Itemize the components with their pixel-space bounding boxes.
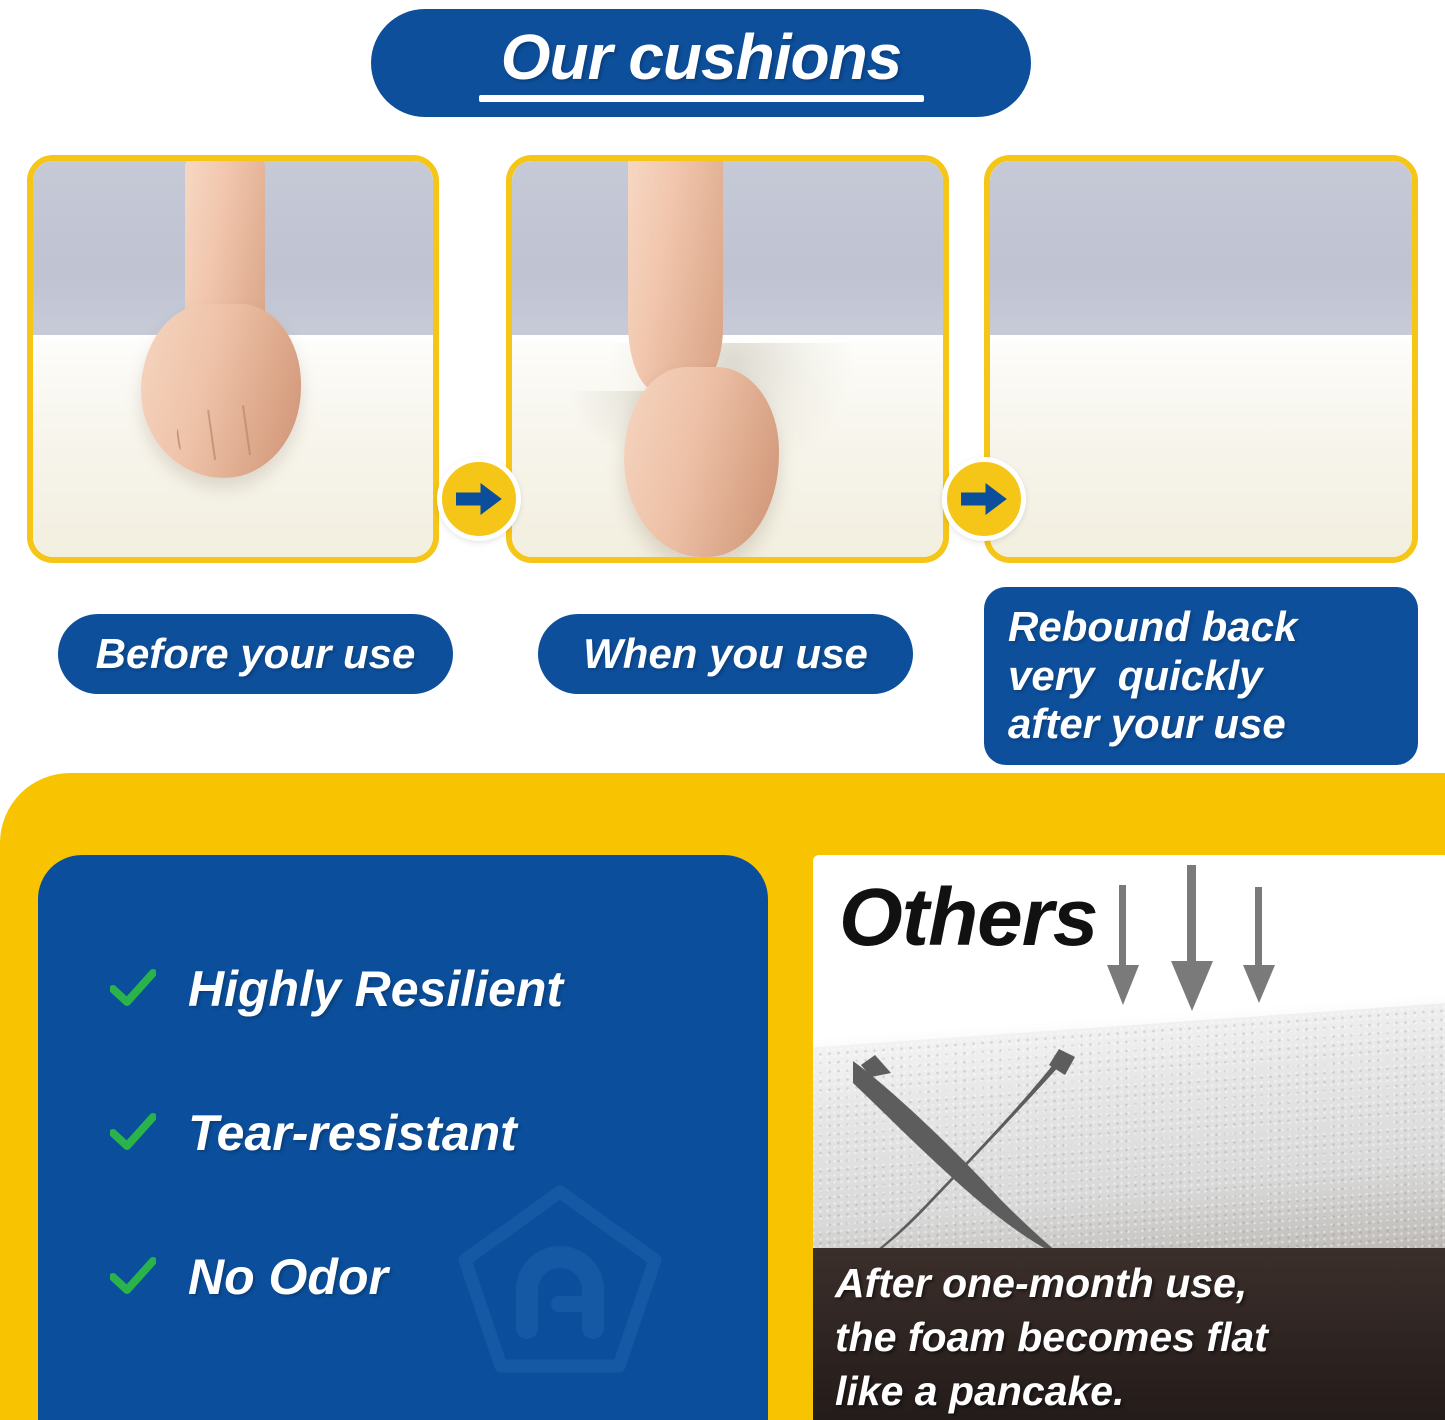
step-caption-before-label: Before your use <box>96 630 416 678</box>
step-caption-after-line-1: Rebound back <box>1008 603 1297 652</box>
foam-scene-before <box>33 161 433 557</box>
step-caption-after: Rebound back very quickly after your use <box>984 587 1418 765</box>
feature-item: No Odor <box>110 1241 730 1313</box>
feature-item: Highly Resilient <box>110 953 730 1025</box>
feature-item: Tear-resistant <box>110 1097 730 1169</box>
forearm <box>628 155 723 391</box>
step-photo-before <box>27 155 439 563</box>
features-panel: Highly Resilient Tear-resistant No Odor <box>38 855 768 1420</box>
step-caption-during-label: When you use <box>583 630 868 678</box>
others-card: Others After one-month use, the foam bec… <box>813 855 1445 1420</box>
check-icon <box>110 1113 156 1153</box>
feature-label: No Odor <box>188 1248 388 1306</box>
step-caption-before: Before your use <box>58 614 453 694</box>
others-caption-line-1: After one-month use, <box>835 1256 1445 1310</box>
title-underline <box>479 95 924 102</box>
others-caption-line-3: like a pancake. <box>835 1364 1445 1418</box>
arrow-right-glyph <box>456 482 502 516</box>
feature-label: Highly Resilient <box>188 960 563 1018</box>
step-photo-after <box>984 155 1418 563</box>
step-caption-after-line-2: very quickly <box>1008 652 1262 701</box>
x-mark-icon <box>831 1025 1101 1285</box>
foam-scene-during <box>512 161 943 557</box>
background-wall <box>990 161 1412 347</box>
arrow-right-icon <box>942 457 1026 541</box>
arrow-right-icon <box>437 457 521 541</box>
background-wall <box>512 161 943 347</box>
feature-label: Tear-resistant <box>188 1104 517 1162</box>
others-caption-line-2: the foam becomes flat <box>835 1310 1445 1364</box>
photo-strip <box>0 155 1445 565</box>
arrow-right-glyph <box>961 482 1007 516</box>
features-list: Highly Resilient Tear-resistant No Odor <box>110 953 730 1385</box>
step-caption-after-line-3: after your use <box>1008 700 1286 749</box>
foam-scene-after <box>990 161 1412 557</box>
step-photo-during <box>506 155 949 563</box>
check-icon <box>110 1257 156 1297</box>
others-caption: After one-month use, the foam becomes fl… <box>813 1248 1445 1420</box>
page-title-banner: Our cushions <box>371 9 1031 117</box>
others-title: Others <box>839 877 1097 959</box>
fist <box>624 367 779 557</box>
page-title: Our cushions <box>501 25 902 89</box>
check-icon <box>110 969 156 1009</box>
step-caption-during: When you use <box>538 614 913 694</box>
foam-block <box>990 335 1412 557</box>
